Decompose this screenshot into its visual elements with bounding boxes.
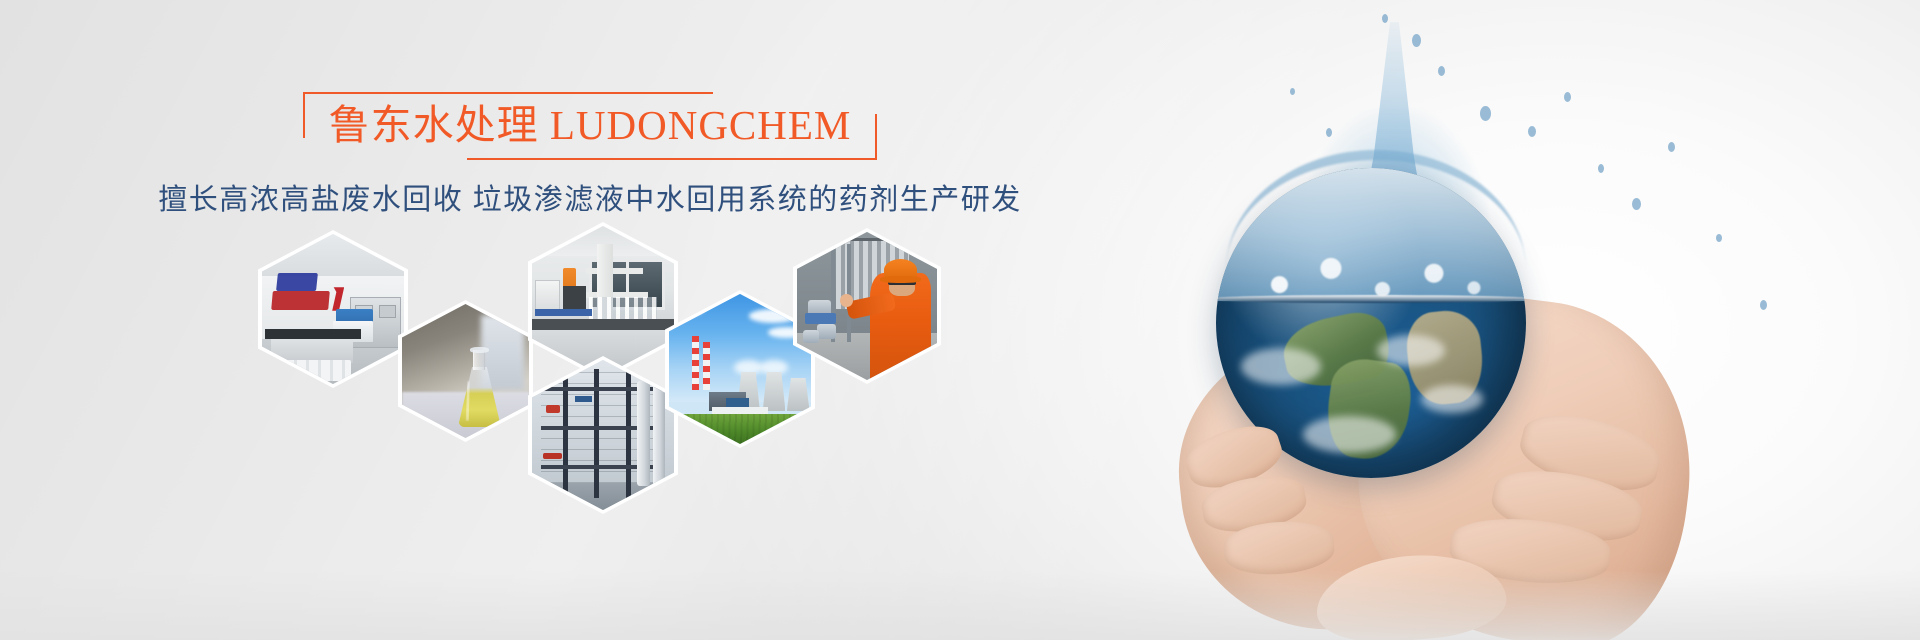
blue-pipe — [575, 396, 592, 402]
valve — [817, 324, 837, 339]
water-droplet — [1438, 66, 1445, 76]
hex-photo-yellow-flask[interactable] — [398, 300, 533, 442]
globe-foam — [1228, 236, 1513, 317]
water-droplet — [1480, 106, 1491, 121]
green-field — [669, 414, 811, 444]
glassware-row — [589, 297, 657, 321]
water-droplet — [1326, 128, 1332, 137]
water-droplet — [1564, 92, 1571, 102]
smokestack — [692, 336, 699, 390]
red-valve — [546, 405, 560, 413]
water-droplet — [1598, 164, 1604, 173]
water-droplet — [1716, 234, 1722, 242]
water-droplet — [1668, 142, 1675, 152]
cloud — [749, 309, 797, 323]
water-droplet — [1528, 126, 1536, 137]
vertical-pipe — [847, 244, 851, 342]
wall-slogan-graphic — [272, 273, 340, 315]
blue-bench-edge — [535, 309, 592, 317]
red-valve — [543, 453, 561, 459]
blue-pipe — [805, 313, 836, 323]
hex-photo-membrane-skid[interactable] — [528, 356, 678, 514]
valve — [803, 330, 820, 343]
hex-photo-plant-worker[interactable] — [793, 228, 941, 384]
hands-holding-water-globe-artwork — [1120, 0, 1920, 640]
lab-bench — [265, 329, 362, 340]
globe-cloud — [1303, 416, 1396, 453]
hero-banner: 鲁东水处理 LUDONGCHEM 擅长高浓高盐废水回收 垃圾渗滤液中水回用系统的… — [0, 0, 1920, 640]
hex-photo-laboratory-room[interactable] — [258, 230, 408, 388]
membrane-vessel — [637, 381, 650, 486]
upper-shelf — [586, 268, 643, 274]
water-droplet — [1382, 14, 1388, 23]
facility-floor — [532, 483, 674, 510]
erlenmeyer-flask — [458, 350, 501, 428]
water-droplet — [1760, 300, 1767, 310]
water-droplet — [1632, 198, 1641, 210]
smokestack — [703, 342, 710, 390]
safety-helmet-icon — [884, 259, 918, 281]
bench-top — [532, 319, 674, 330]
water-droplet — [1412, 34, 1421, 47]
membrane-vessel — [653, 381, 666, 486]
water-droplet — [1290, 88, 1295, 95]
globe-waterline — [1216, 295, 1526, 303]
chemical-jugs — [273, 360, 351, 381]
hex-photo-power-plant[interactable] — [665, 290, 815, 448]
globe-cloud — [1421, 385, 1483, 413]
hexagon-photo-cluster — [0, 0, 1180, 640]
globe-cloud — [1241, 348, 1322, 385]
cloud — [678, 306, 704, 315]
